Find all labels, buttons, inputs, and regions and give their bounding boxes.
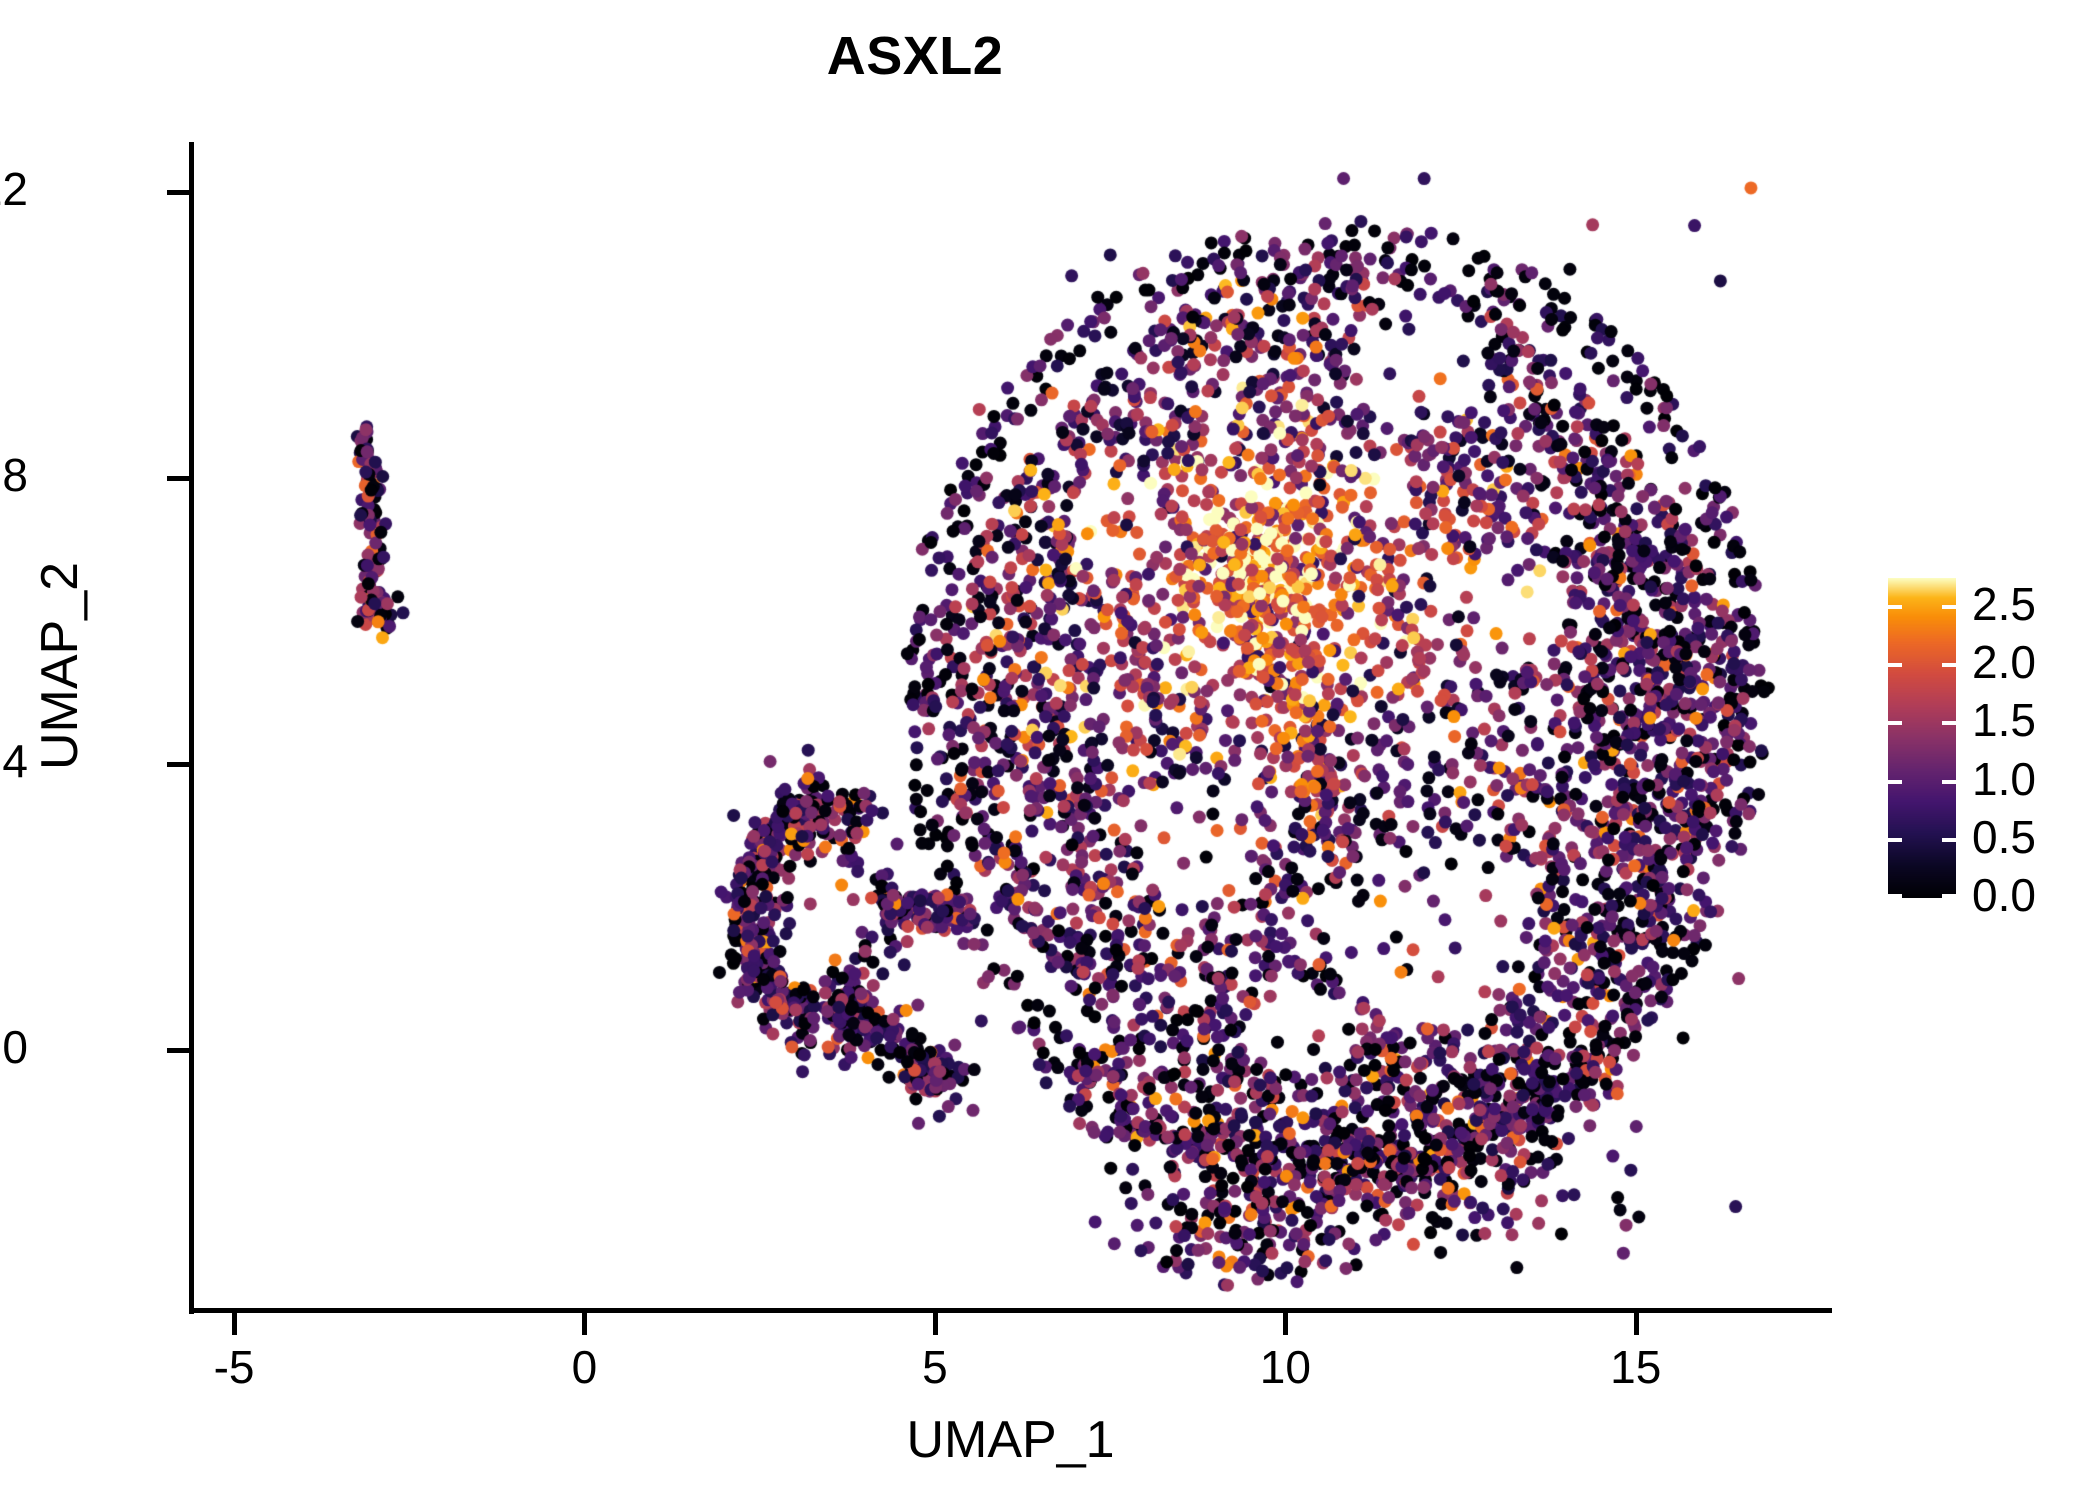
x-tick-label: 0	[504, 1344, 664, 1390]
y-tick-mark	[167, 190, 189, 195]
x-axis-title: UMAP_1	[189, 1414, 1832, 1466]
y-tick-label: 8	[0, 452, 28, 498]
x-axis-line	[189, 1308, 1832, 1313]
colorbar-tick-label: 1.0	[1972, 756, 2100, 802]
umap-feature-plot-figure: ASXL2 12840 -5051015 UMAP_1 UMAP_2 2.52.…	[0, 0, 2100, 1500]
x-tick-label: -5	[154, 1344, 314, 1390]
y-tick-mark	[167, 762, 189, 767]
y-axis-line	[189, 142, 194, 1314]
color-legend: 2.52.01.51.00.50.0	[1888, 578, 2078, 908]
colorbar-tick-label: 2.0	[1972, 639, 2100, 685]
colorbar-tick-label: 2.5	[1972, 581, 2100, 627]
y-tick-label: 12	[0, 166, 28, 212]
colorbar-tick-label: 1.5	[1972, 697, 2100, 743]
y-axis-title: UMAP_2	[34, 346, 86, 986]
scatter-plot-canvas	[192, 142, 1832, 1308]
y-tick-label: 0	[0, 1024, 28, 1070]
colorbar-tick-mark	[1888, 605, 1956, 609]
x-tick-label: 15	[1556, 1344, 1716, 1390]
y-tick-mark	[167, 1048, 189, 1053]
x-tick-label: 10	[1205, 1344, 1365, 1390]
colorbar-tick-mark	[1888, 663, 1956, 667]
colorbar-tick-mark	[1888, 721, 1956, 725]
x-tick-mark	[1283, 1313, 1288, 1335]
colorbar-tick-mark	[1888, 780, 1956, 784]
colorbar-tick-mark	[1888, 838, 1956, 842]
plot-panel	[192, 142, 1832, 1308]
page-title: ASXL2	[0, 28, 1830, 85]
colorbar-tick-label: 0.5	[1972, 814, 2100, 860]
x-tick-mark	[582, 1313, 587, 1335]
colorbar-tick-label: 0.0	[1972, 872, 2100, 918]
y-tick-label: 4	[0, 738, 28, 784]
colorbar-tick-mark	[1888, 894, 1956, 898]
x-tick-mark	[933, 1313, 938, 1335]
colorbar-gradient	[1888, 578, 1956, 898]
y-tick-mark	[167, 476, 189, 481]
x-tick-label: 5	[855, 1344, 1015, 1390]
x-tick-mark	[1634, 1313, 1639, 1335]
x-tick-mark	[232, 1313, 237, 1335]
